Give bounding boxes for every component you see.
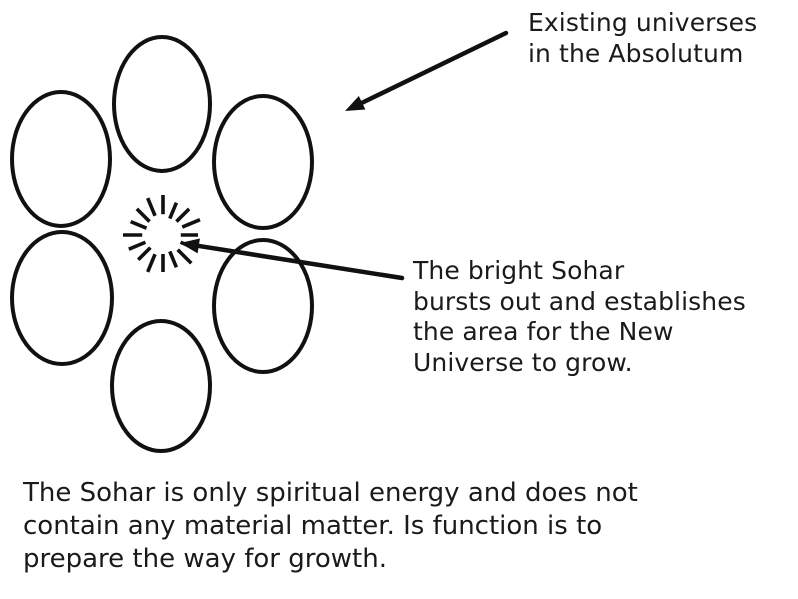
arrow-to-sohar bbox=[180, 239, 402, 278]
label-bright-sohar: The bright Sohar bursts out and establis… bbox=[413, 256, 793, 378]
starburst-ray bbox=[138, 248, 150, 260]
starburst-ray bbox=[182, 220, 200, 227]
arrow-to-universes bbox=[345, 33, 506, 111]
diagram-canvas: Existing universes in the Absolutum The … bbox=[0, 0, 798, 599]
sohar-starburst-icon bbox=[123, 195, 200, 272]
starburst-ray bbox=[170, 203, 177, 219]
universe-top-right bbox=[214, 96, 312, 228]
starburst-ray bbox=[129, 242, 146, 249]
starburst-ray bbox=[176, 209, 189, 222]
starburst-ray bbox=[148, 254, 155, 272]
existing-universes-group bbox=[12, 37, 312, 451]
starburst-ray bbox=[137, 209, 150, 222]
starburst-ray bbox=[170, 251, 177, 267]
universe-top-center bbox=[114, 37, 210, 171]
arrow-shaft bbox=[199, 246, 402, 278]
caption-paragraph: The Sohar is only spiritual energy and d… bbox=[23, 477, 775, 576]
starburst-ray bbox=[178, 250, 192, 264]
universe-bottom-center bbox=[112, 321, 210, 451]
label-existing-universes: Existing universes in the Absolutum bbox=[528, 8, 790, 69]
universe-bottom-left bbox=[12, 232, 112, 364]
starburst-ray bbox=[131, 222, 147, 229]
leader-arrows-group bbox=[180, 33, 506, 278]
arrow-head bbox=[345, 96, 365, 111]
universe-top-left bbox=[12, 92, 110, 226]
arrow-shaft bbox=[362, 33, 506, 103]
arrow-head bbox=[180, 239, 200, 254]
starburst-ray bbox=[148, 198, 155, 216]
